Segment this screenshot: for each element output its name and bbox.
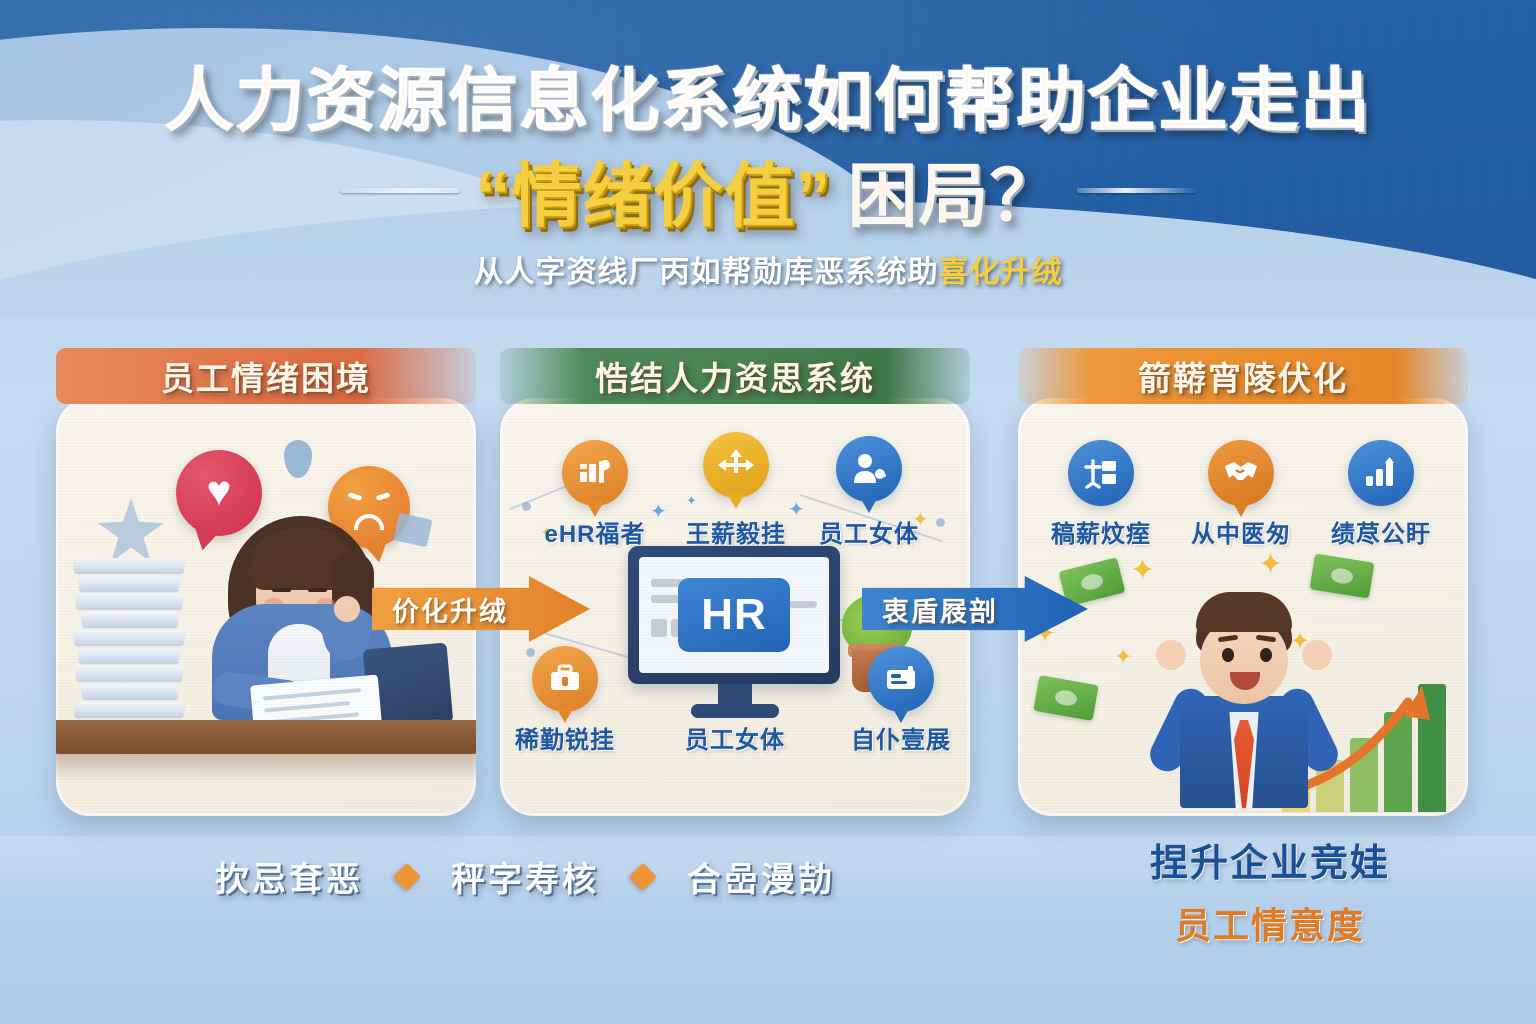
paper-sheet xyxy=(74,702,184,717)
heart-glyph: ♥ xyxy=(207,470,232,512)
paper-sheet xyxy=(79,576,179,591)
bottom-conclusion: 捏升企业竞娃 员工情意度 xyxy=(1060,832,1480,949)
eye-left xyxy=(272,588,291,592)
desk-surface xyxy=(56,720,476,754)
hair-front xyxy=(1196,592,1292,632)
money-bill-icon xyxy=(1033,675,1098,721)
panel-compensation-optimization: 稿薪炆痓 从中匧匆 绩荩公盱 ✦ ✦ ✦ ✦ ✦ xyxy=(1018,398,1468,816)
paper-sheet xyxy=(76,594,182,609)
bottom-keyword-3: 合嵒漫劼 xyxy=(687,852,835,901)
right-illustration: 稿薪炆痓 从中匧匆 绩荩公盱 ✦ ✦ ✦ ✦ ✦ xyxy=(1018,398,1468,816)
eye-right xyxy=(1260,648,1272,662)
sparkle-icon: ✦ xyxy=(686,494,697,507)
main-title-line-2: “情绪价值” 困局？ xyxy=(0,140,1536,241)
star-shape-icon xyxy=(98,498,164,564)
person-doc-glyph xyxy=(1083,457,1119,489)
arrows-glyph xyxy=(716,447,756,483)
monitor-neck xyxy=(718,684,752,706)
paper-sheet xyxy=(74,558,184,573)
bottom-keyword-row: 扻忌耷恶 秤字寿核 合嵒漫劼 xyxy=(0,852,1050,901)
paper-stack-illustration xyxy=(74,558,184,720)
icon-label-employee-service: 员工女体 xyxy=(794,514,944,549)
sparkle-icon: ✦ xyxy=(1258,550,1283,580)
paper-sheet xyxy=(76,666,182,681)
paper-sheet xyxy=(79,648,179,663)
bottom-keyword-2: 秤字寿核 xyxy=(451,852,599,901)
user-bubble-icon[interactable] xyxy=(836,436,902,502)
arrows-diamond-icon[interactable] xyxy=(703,432,769,498)
bottom-keyword-1: 扻忌耷恶 xyxy=(215,852,363,901)
handshake-glyph xyxy=(1221,458,1261,488)
icon-label-salary: 王薪毅挂 xyxy=(661,514,811,549)
screen-tile xyxy=(651,619,667,637)
money-bill-icon xyxy=(1310,554,1375,599)
subtitle: 从人字资线厂丙如帮勋库恶系统助喜化升绒 xyxy=(0,247,1536,291)
panel-header-hr-system: 悎结人力资思系统 xyxy=(500,348,970,404)
subtitle-main-text: 从人字资线厂丙如帮勋库恶系统助 xyxy=(474,256,939,289)
network-dot xyxy=(526,648,535,657)
chart-bubble-icon[interactable] xyxy=(562,440,628,506)
eye-right xyxy=(308,588,327,592)
paper-sheet xyxy=(82,612,178,627)
chart-glyph xyxy=(578,458,612,488)
card-bubble-icon[interactable] xyxy=(868,646,934,712)
icon-label-employee-service-2: 员工女体 xyxy=(660,720,810,755)
icon-label-fairness: 从中匧匆 xyxy=(1166,514,1316,549)
bar-growth-icon[interactable] xyxy=(1348,440,1414,506)
conclusion-line-2: 员工情意度 xyxy=(1060,897,1480,949)
icon-label-performance: 绩荩公盱 xyxy=(1306,514,1456,549)
user-glyph xyxy=(851,453,887,485)
handshake-icon[interactable] xyxy=(1208,440,1274,506)
hr-logo-text: HR xyxy=(701,593,767,637)
panel-header-employee-emotion: 员工情绪困境 xyxy=(56,348,476,404)
doc-line xyxy=(263,688,361,701)
person-doc-icon[interactable] xyxy=(1068,440,1134,506)
title-highlight-phrase: “情绪价值” xyxy=(476,140,832,241)
bubble-tail xyxy=(727,493,745,509)
diamond-separator-icon xyxy=(393,862,421,890)
main-title-line-1: 人力资源信息化系统如何帮助企业走出 xyxy=(0,44,1536,144)
fist-left xyxy=(1156,640,1186,670)
title-tail-phrase: 困局？ xyxy=(848,140,1061,241)
doc-line xyxy=(264,701,350,712)
drop-shape-icon xyxy=(284,440,312,478)
briefcase-glyph xyxy=(548,664,582,694)
sparkle-icon: ✦ xyxy=(1114,646,1132,668)
hr-logo-tile: HR xyxy=(678,578,790,652)
title-rule-right xyxy=(1077,188,1197,193)
briefcase-bubble-icon[interactable] xyxy=(532,646,598,712)
screen-bar xyxy=(789,601,817,608)
bubble-tail xyxy=(860,497,878,513)
eye-left xyxy=(1222,648,1234,662)
icon-label-ehr: eHR福者 xyxy=(520,514,670,549)
title-rule-left xyxy=(340,188,460,193)
desk-shadow xyxy=(56,752,476,782)
hr-monitor: HR xyxy=(628,546,840,684)
hand-on-temple xyxy=(334,596,360,622)
network-dot xyxy=(522,502,531,511)
paper-sheet xyxy=(82,684,178,699)
icon-label-salary-structure: 稿薪炆痓 xyxy=(1026,514,1176,549)
hr-dashboard-screen: HR xyxy=(639,557,829,673)
card-glyph xyxy=(884,664,918,694)
diamond-separator-icon xyxy=(629,862,657,890)
happy-employee-illustration xyxy=(1156,596,1332,808)
sparkle-icon: ✦ xyxy=(1130,556,1155,586)
icon-label-attendance: 稀勤锐挂 xyxy=(500,720,640,755)
bar-growth-glyph xyxy=(1363,457,1399,489)
angry-eye-left xyxy=(348,492,363,501)
monitor-foot xyxy=(691,704,779,718)
paper-sheet xyxy=(74,630,184,645)
fist-right xyxy=(1302,640,1332,670)
panel-header-compensation-optimization: 箭鞯宵陵伏化 xyxy=(1018,348,1468,404)
icon-label-self-service: 自仆壹展 xyxy=(826,720,970,755)
angry-eye-right xyxy=(376,492,391,501)
conclusion-line-1: 捏升企业竞娃 xyxy=(1060,832,1480,887)
subtitle-highlight-text: 喜化升绒 xyxy=(939,256,1063,289)
